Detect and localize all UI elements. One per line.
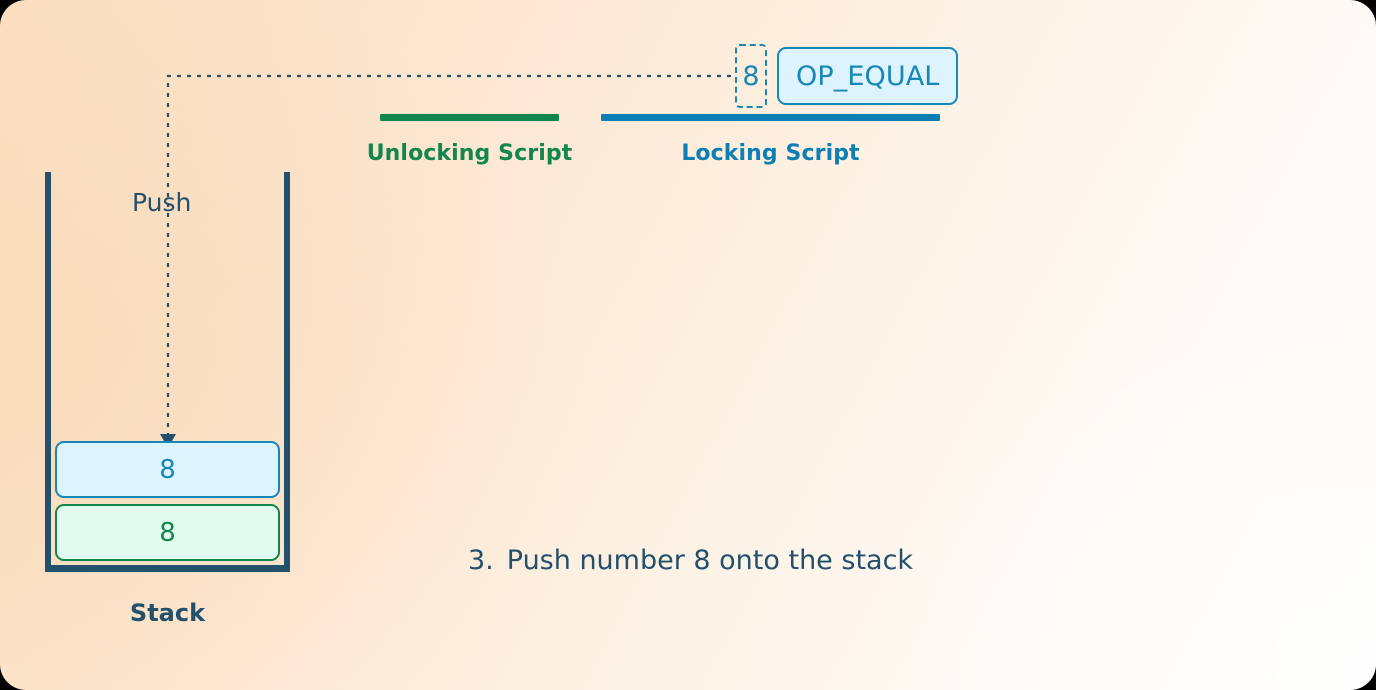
unlocking-script-label: Unlocking Script	[367, 141, 573, 166]
stack-item[interactable]: 8	[55, 441, 280, 498]
step-caption: 3. Push number 8 onto the stack	[468, 545, 913, 576]
unlocking-script-bar	[380, 114, 559, 121]
step-number: 3.	[468, 545, 494, 576]
stack-wall-bottom	[45, 565, 290, 572]
consumed-token-8[interactable]: 8	[735, 44, 767, 108]
stack-item[interactable]: 8	[55, 504, 280, 561]
stack-item-list: 8 8	[55, 441, 280, 561]
stack-wall-left	[45, 172, 51, 572]
legend-unlocking-script: Unlocking Script	[380, 114, 559, 166]
legend-locking-script: Locking Script	[601, 114, 940, 166]
op-equal-token[interactable]: OP_EQUAL	[777, 47, 958, 105]
locking-script-label: Locking Script	[681, 141, 859, 166]
stack-wall-right	[284, 172, 290, 572]
locking-script-bar	[601, 114, 940, 121]
script-token-row: 8 OP_EQUAL	[735, 44, 958, 108]
stack-container: 8 8	[45, 172, 290, 572]
stack-title: Stack	[45, 599, 290, 627]
diagram-canvas: 8 OP_EQUAL Unlocking Script Locking Scri…	[0, 0, 1376, 690]
step-text: Push number 8 onto the stack	[507, 545, 913, 576]
